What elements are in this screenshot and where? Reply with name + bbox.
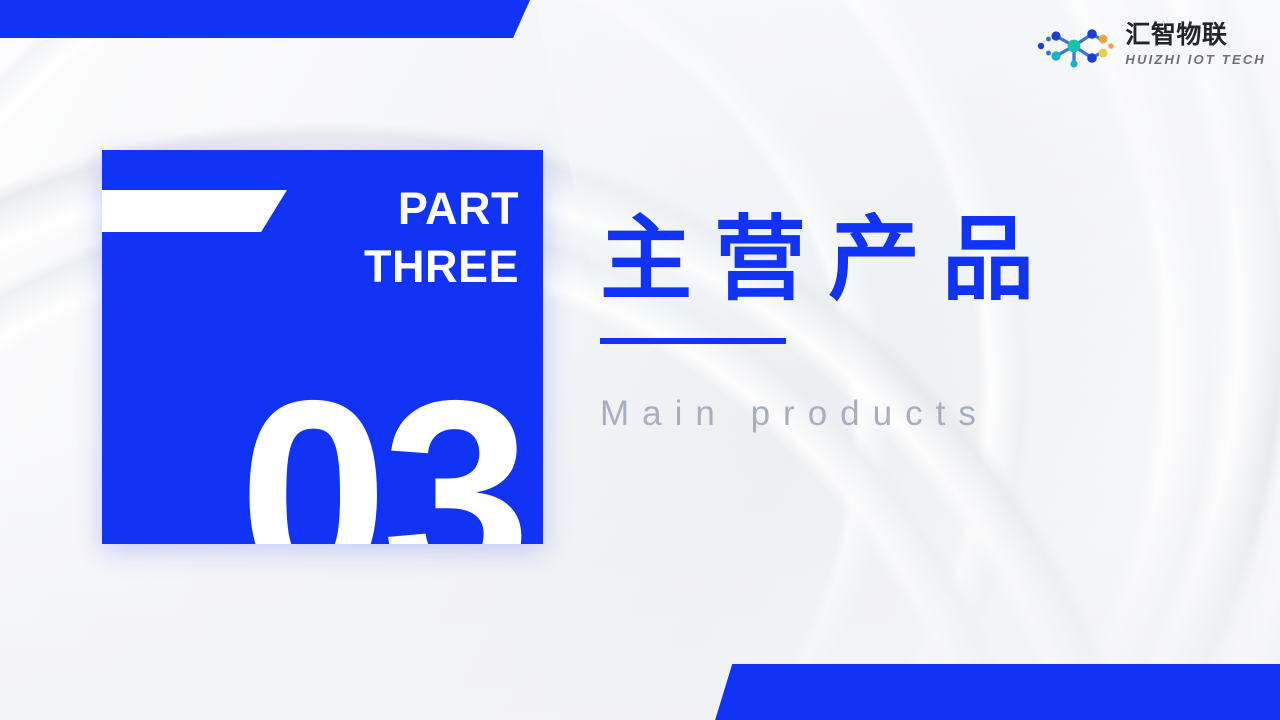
headline-underline-rule [600, 338, 786, 344]
part-label: PART THREE [259, 180, 519, 296]
part-label-line1: PART [398, 183, 519, 234]
page-subtitle: Main products [600, 392, 1220, 436]
logo-company-name-en: HUIZHI IOT TECH [1125, 51, 1266, 69]
top-left-blue-bar [0, 0, 530, 38]
section-number: 03 [239, 360, 525, 544]
slide-canvas: 汇智物联 HUIZHI IOT TECH PART THREE 03 主营产品 … [0, 0, 1280, 720]
page-title: 主营产品 [600, 208, 1220, 312]
section-number-card: PART THREE 03 [102, 150, 543, 544]
part-label-line2: THREE [259, 238, 519, 296]
logo-text-block: 汇智物联 HUIZHI IOT TECH [1125, 22, 1266, 69]
company-logo: 汇智物联 HUIZHI IOT TECH [1032, 22, 1266, 69]
logo-company-name-cn: 汇智物联 [1125, 22, 1266, 49]
headline-block: 主营产品 Main products [600, 208, 1220, 436]
huizhi-network-nodes-logo-mark [1032, 24, 1116, 68]
bottom-right-blue-bar [710, 664, 1280, 720]
